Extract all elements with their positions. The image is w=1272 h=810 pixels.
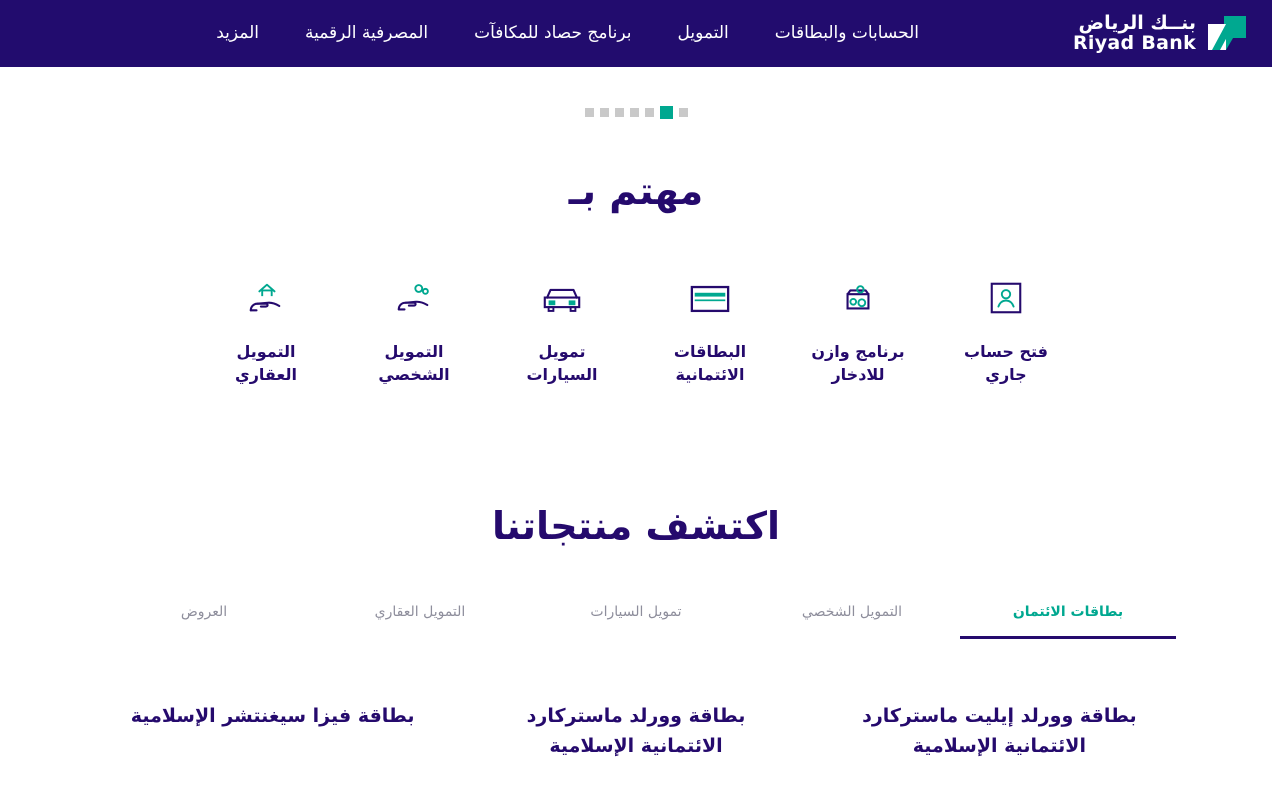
interest-label-personal-financing: التمويل الشخصي: [354, 341, 474, 386]
carousel-dot-6[interactable]: [600, 108, 609, 117]
tab-credit-cards[interactable]: بطاقات الائتمان: [960, 604, 1176, 639]
interest-label-credit-cards: البطاقات الائتمانية: [650, 341, 770, 386]
carousel-dot-7[interactable]: [585, 108, 594, 117]
interest-label-wazen-savings-program: برنامج وازن للادخار: [798, 341, 918, 386]
tab-personal-financing[interactable]: التمويل الشخصي: [744, 604, 960, 639]
riyad-bank-logo-mark-icon: [1206, 14, 1248, 54]
interest-item-wazen-savings-program[interactable]: برنامج وازن للادخار: [784, 275, 932, 386]
credit-card-icon: [689, 275, 731, 321]
products-section: اكتشف منتجاتنا بطاقات الائتمان التمويل ا…: [0, 504, 1272, 761]
interest-item-car-financing[interactable]: تمويل السيارات: [488, 275, 636, 386]
nav-item-hasad-rewards-program[interactable]: برنامج حصاد للمكافآت: [451, 0, 654, 67]
interest-item-real-estate-financing[interactable]: التمويل العقاري: [192, 275, 340, 386]
hand-house-icon: [245, 275, 287, 321]
carousel-dot-2-active[interactable]: [660, 106, 673, 119]
carousel-dot-1[interactable]: [679, 108, 688, 117]
tab-offers[interactable]: العروض: [96, 604, 312, 639]
product-card[interactable]: بطاقة وورلد إيليت ماستركارد الائتمانية ا…: [818, 701, 1181, 761]
carousel-dot-3[interactable]: [645, 108, 654, 117]
nav-item-digital-banking[interactable]: المصرفية الرقمية: [282, 0, 451, 67]
interest-label-real-estate-financing: التمويل العقاري: [206, 341, 326, 386]
hand-coins-icon: [393, 275, 435, 321]
main-navigation: الحسابات والبطاقات التمويل برنامج حصاد ل…: [193, 0, 942, 67]
site-header: الحسابات والبطاقات التمويل برنامج حصاد ل…: [0, 0, 1272, 67]
logo-wordmark: بنــك الرياض Riyad Bank: [1073, 14, 1196, 54]
interests-section: مهتم بـ فتح حساب جاري: [0, 169, 1272, 386]
logo-name-english: Riyad Bank: [1073, 34, 1196, 54]
interests-list: فتح حساب جاري برنامج وازن للادخار: [0, 275, 1272, 386]
person-account-icon: [987, 275, 1025, 321]
product-card-title: بطاقة وورلد ماستركارد الائتمانية الإسلام…: [491, 701, 781, 761]
interest-item-personal-financing[interactable]: التمويل الشخصي: [340, 275, 488, 386]
riyad-bank-logo[interactable]: بنــك الرياض Riyad Bank: [1073, 8, 1248, 60]
interest-item-open-current-account[interactable]: فتح حساب جاري: [932, 275, 1080, 386]
product-card-list: بطاقة وورلد إيليت ماستركارد الائتمانية ا…: [91, 701, 1181, 761]
car-icon: [540, 275, 584, 321]
interest-label-car-financing: تمويل السيارات: [502, 341, 622, 386]
interest-item-credit-cards[interactable]: البطاقات الائتمانية: [636, 275, 784, 386]
product-tabs: بطاقات الائتمان التمويل الشخصي تمويل الس…: [96, 604, 1176, 639]
product-card[interactable]: بطاقة وورلد ماستركارد الائتمانية الإسلام…: [454, 701, 817, 761]
tab-car-financing[interactable]: تمويل السيارات: [528, 604, 744, 639]
nav-item-financing[interactable]: التمويل: [655, 0, 752, 67]
product-card[interactable]: بطاقة فيزا سيغنتشر الإسلامية: [91, 701, 454, 731]
carousel-dot-5[interactable]: [615, 108, 624, 117]
tab-real-estate-financing[interactable]: التمويل العقاري: [312, 604, 528, 639]
product-card-title: بطاقة فيزا سيغنتشر الإسلامية: [128, 701, 418, 731]
interest-label-open-current-account: فتح حساب جاري: [946, 341, 1066, 386]
products-title: اكتشف منتجاتنا: [0, 504, 1272, 548]
product-card-title: بطاقة وورلد إيليت ماستركارد الائتمانية ا…: [854, 701, 1144, 761]
savings-coins-icon: [839, 275, 877, 321]
nav-item-accounts-and-cards[interactable]: الحسابات والبطاقات: [752, 0, 942, 67]
carousel-dot-4[interactable]: [630, 108, 639, 117]
nav-item-more[interactable]: المزيد: [193, 0, 282, 67]
hero-carousel-indicators: [0, 103, 1272, 121]
logo-name-arabic: بنــك الرياض: [1073, 14, 1196, 34]
interests-title: مهتم بـ: [0, 169, 1272, 213]
